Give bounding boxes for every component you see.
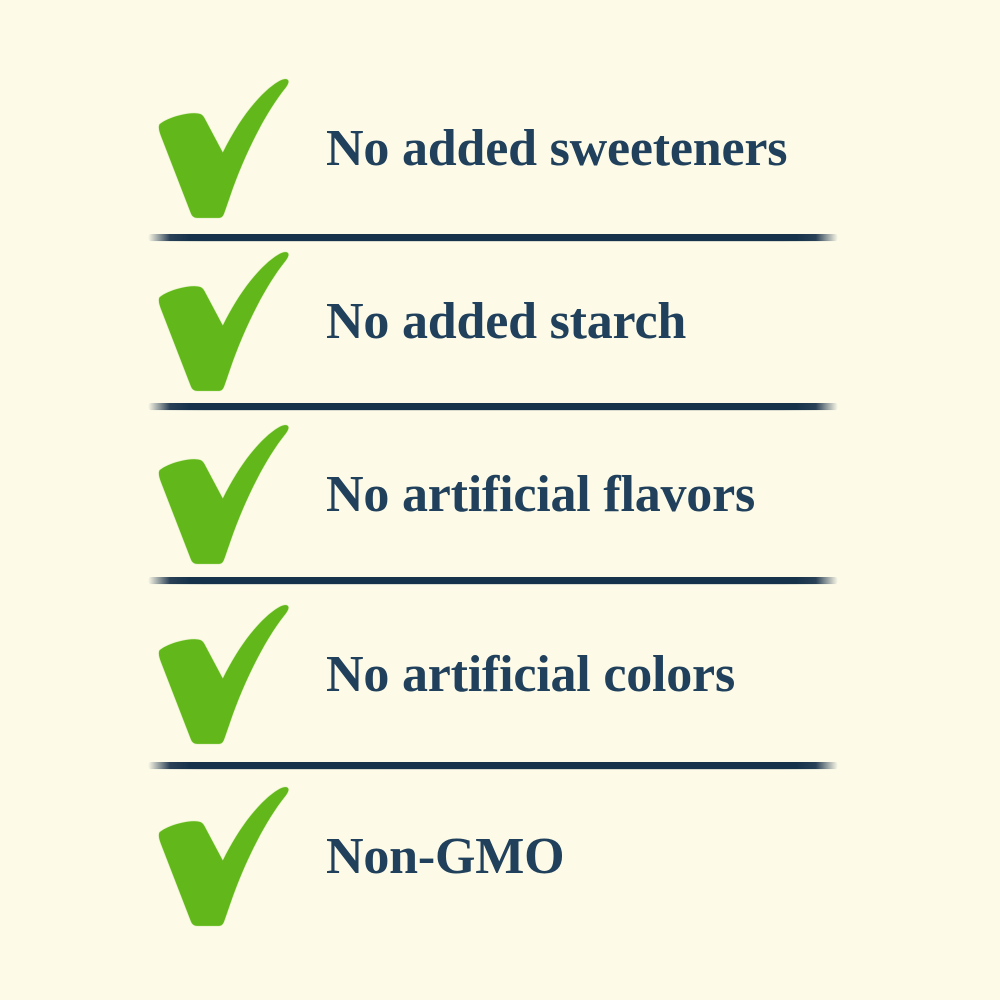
list-item: No artificial colors [148,588,838,762]
list-item: No added sweeteners [148,63,838,235]
claim-label: No artificial flavors [326,468,838,522]
green-checkmark-icon [148,600,298,750]
product-claims-panel: No added sweeteners No added starch No a… [0,0,1000,1000]
green-checkmark-icon [148,782,298,932]
green-checkmark-icon [148,247,298,397]
list-item: Non-GMO [148,772,838,942]
green-checkmark-icon [148,74,298,224]
list-item: No added starch [148,240,838,404]
claim-label: No added sweeteners [326,122,838,176]
claim-label: No added starch [326,295,838,349]
claims-list: No added sweeteners No added starch No a… [0,0,1000,1000]
green-checkmark-icon [148,420,298,570]
claim-label: No artificial colors [326,648,838,702]
list-item: No artificial flavors [148,412,838,578]
claim-label: Non-GMO [326,830,838,884]
